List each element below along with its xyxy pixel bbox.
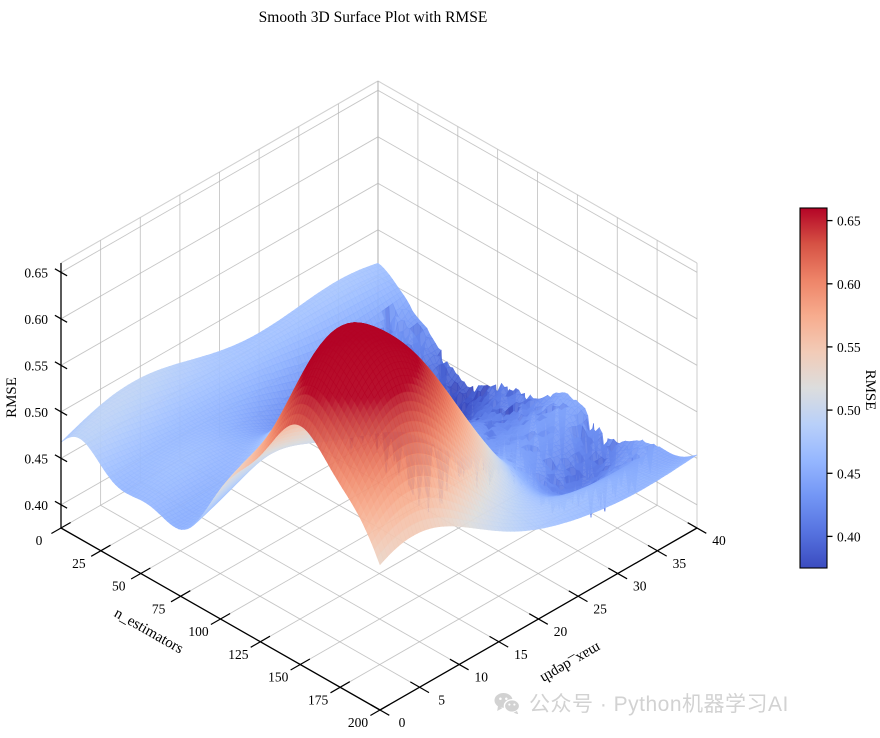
x-tick-125: 125 [228,647,249,662]
x-tick-150: 150 [268,670,289,685]
y-tick-25: 25 [593,601,607,616]
z-tick-0.55: 0.55 [24,358,48,373]
watermark-text: 公众号 · Python机器学习AI [529,688,789,718]
y-tick-0: 0 [399,715,406,730]
figure-root: Smooth 3D Surface Plot with RMSE 0255075… [0,0,880,738]
z-tick-0.40: 0.40 [24,498,48,513]
surface-plot-figure: Smooth 3D Surface Plot with RMSE 0255075… [0,0,880,738]
y-tick-30: 30 [633,579,647,594]
y-tick-5: 5 [438,692,445,707]
x-tick-75: 75 [152,601,166,616]
colorbar-tick-0.50: 0.50 [837,403,861,418]
x-tick-50: 50 [112,579,126,594]
colorbar-tick-0.55: 0.55 [837,340,861,355]
z-tick-0.50: 0.50 [24,405,48,420]
x-tick-25: 25 [72,556,86,571]
colorbar-gradient[interactable] [800,208,827,568]
z-axis-label: RMSE [4,377,20,418]
x-tick-0: 0 [36,533,43,548]
colorbar-tick-0.60: 0.60 [837,277,861,292]
y-tick-35: 35 [673,556,687,571]
y-tick-20: 20 [554,624,568,639]
z-tick-0.60: 0.60 [24,312,48,327]
x-tick-100: 100 [188,624,209,639]
y-tick-10: 10 [475,670,489,685]
colorbar-tick-0.40: 0.40 [837,529,861,544]
wechat-icon [494,692,520,714]
z-tick-0.65: 0.65 [24,265,48,280]
page-title: Smooth 3D Surface Plot with RMSE [259,9,488,26]
colorbar-tick-0.65: 0.65 [837,214,861,229]
x-tick-175: 175 [308,692,329,707]
watermark: 公众号 · Python机器学习AI [494,688,789,718]
x-tick-200: 200 [348,715,369,730]
y-tick-15: 15 [514,647,528,662]
colorbar-tick-0.45: 0.45 [837,466,861,481]
y-tick-40: 40 [712,533,726,548]
z-tick-0.45: 0.45 [24,451,48,466]
colorbar-label: RMSE [862,370,878,411]
